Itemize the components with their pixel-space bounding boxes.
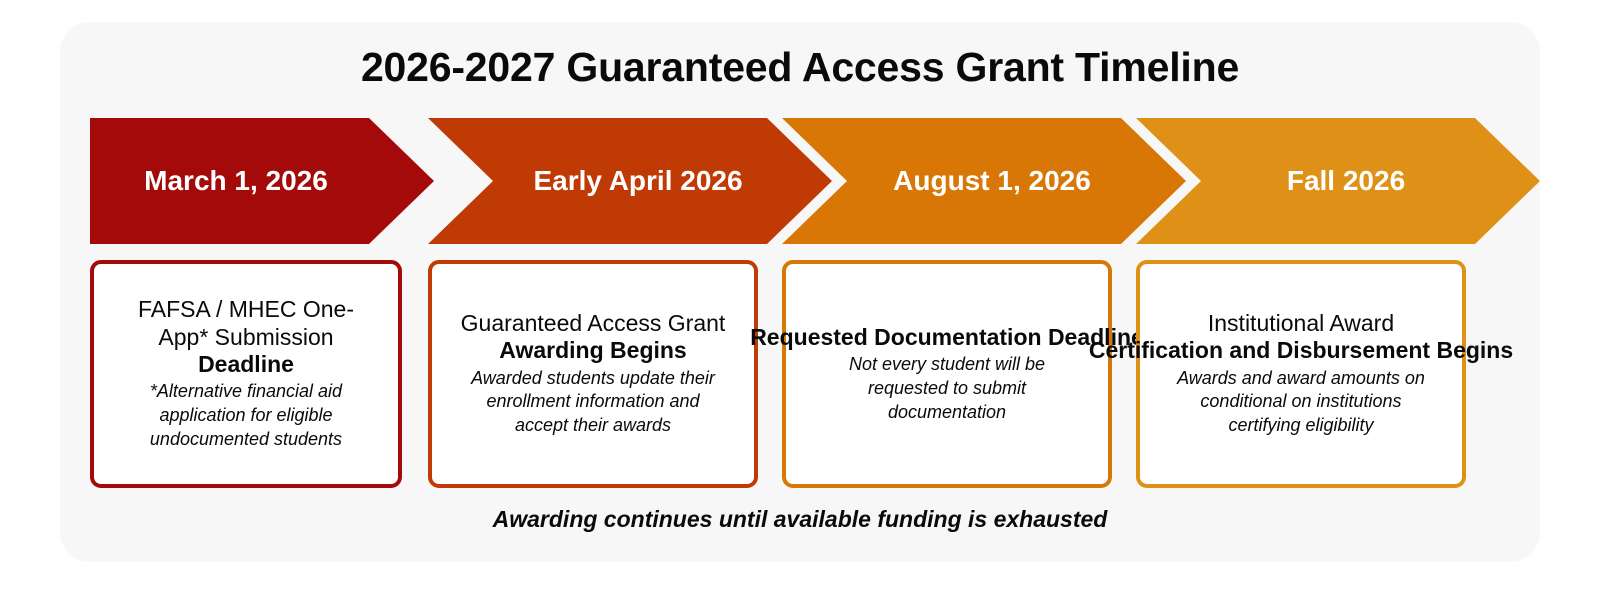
page-title: 2026-2027 Guaranteed Access Grant Timeli… [60,44,1540,91]
timeline-chevron-band: March 1, 2026 Early April 2026 August 1,… [60,118,1540,244]
card-emphasis-text: Awarding Begins [499,337,686,364]
stage-chevron-label: March 1, 2026 [144,165,328,197]
timeline-detail-card-1: FAFSA / MHEC One- App* Submission Deadli… [90,260,402,488]
timeline-stage-chevron-4: Fall 2026 [1136,118,1540,244]
card-note-text: Awarded students update their enrollment… [471,367,715,438]
stage-chevron-label: Fall 2026 [1287,165,1405,197]
timeline-stage-chevron-1: March 1, 2026 [90,118,434,244]
stage-chevron-label: August 1, 2026 [893,165,1091,197]
card-note-text: Not every student will be requested to s… [849,353,1045,424]
timeline-detail-card-2: Guaranteed Access Grant Awarding Begins … [428,260,758,488]
timeline-stage-chevron-2: Early April 2026 [428,118,832,244]
card-lead-text: Guaranteed Access Grant [461,310,726,337]
card-emphasis-text: Certification and Disbursement Begins [1089,337,1513,364]
card-lead-text: FAFSA / MHEC One- App* Submission [138,296,354,351]
card-emphasis-text: Requested Documentation Deadline [750,324,1144,351]
card-lead-text: Institutional Award [1208,310,1394,337]
timeline-detail-card-3: Requested Documentation Deadline Not eve… [782,260,1112,488]
timeline-stage-chevron-3: August 1, 2026 [782,118,1186,244]
card-note-text: *Alternative financial aid application f… [150,380,342,451]
stage-chevron-label: Early April 2026 [533,165,742,197]
timeline-detail-card-row: FAFSA / MHEC One- App* Submission Deadli… [60,260,1540,488]
timeline-infographic-panel: 2026-2027 Guaranteed Access Grant Timeli… [60,22,1540,562]
card-note-text: Awards and award amounts on conditional … [1177,367,1425,438]
timeline-detail-card-4: Institutional Award Certification and Di… [1136,260,1466,488]
timeline-footnote: Awarding continues until available fundi… [60,506,1540,533]
card-emphasis-text: Deadline [198,351,294,378]
